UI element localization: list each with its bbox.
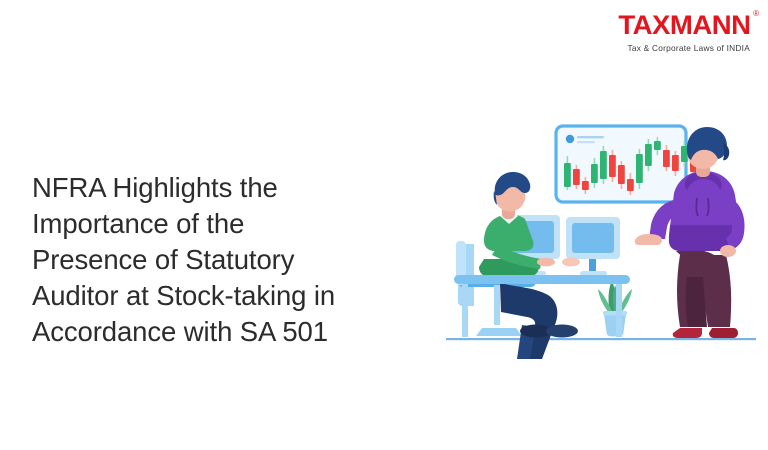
- worker-shoe-back: [546, 325, 578, 338]
- hero-illustration: [440, 95, 760, 360]
- presenter-shoe-left: [673, 328, 702, 338]
- presenter-hand-right: [720, 245, 736, 257]
- chair-base: [476, 328, 522, 336]
- presenter-shoe-right: [709, 328, 738, 338]
- illustration-svg: [440, 95, 760, 360]
- desk-leg-left: [462, 284, 468, 337]
- presenter-hand-left: [635, 234, 662, 245]
- potted-plant: [598, 281, 632, 336]
- page-title: NFRA Highlights the Importance of the Pr…: [32, 170, 432, 350]
- worker-hand-left: [537, 258, 555, 267]
- taxmann-logo: TAXMANN ® Tax & Corporate Laws of INDIA: [621, 12, 750, 52]
- header-line-2: [577, 141, 595, 143]
- desk-leg-right: [616, 284, 622, 337]
- poster-canvas: TAXMANN ® Tax & Corporate Laws of INDIA …: [0, 0, 768, 450]
- chair-post: [494, 285, 500, 325]
- avatar: [566, 135, 574, 143]
- logo-wordmark-wrap: TAXMANN ®: [621, 12, 750, 39]
- desk-top: [454, 275, 630, 284]
- worker-hand-right: [562, 258, 580, 267]
- registered-trademark-icon: ®: [753, 10, 759, 18]
- logo-wordmark: TAXMANN: [618, 12, 750, 39]
- logo-tagline: Tax & Corporate Laws of INDIA: [621, 44, 750, 52]
- header-line-1: [577, 136, 604, 138]
- floor-line: [446, 338, 756, 340]
